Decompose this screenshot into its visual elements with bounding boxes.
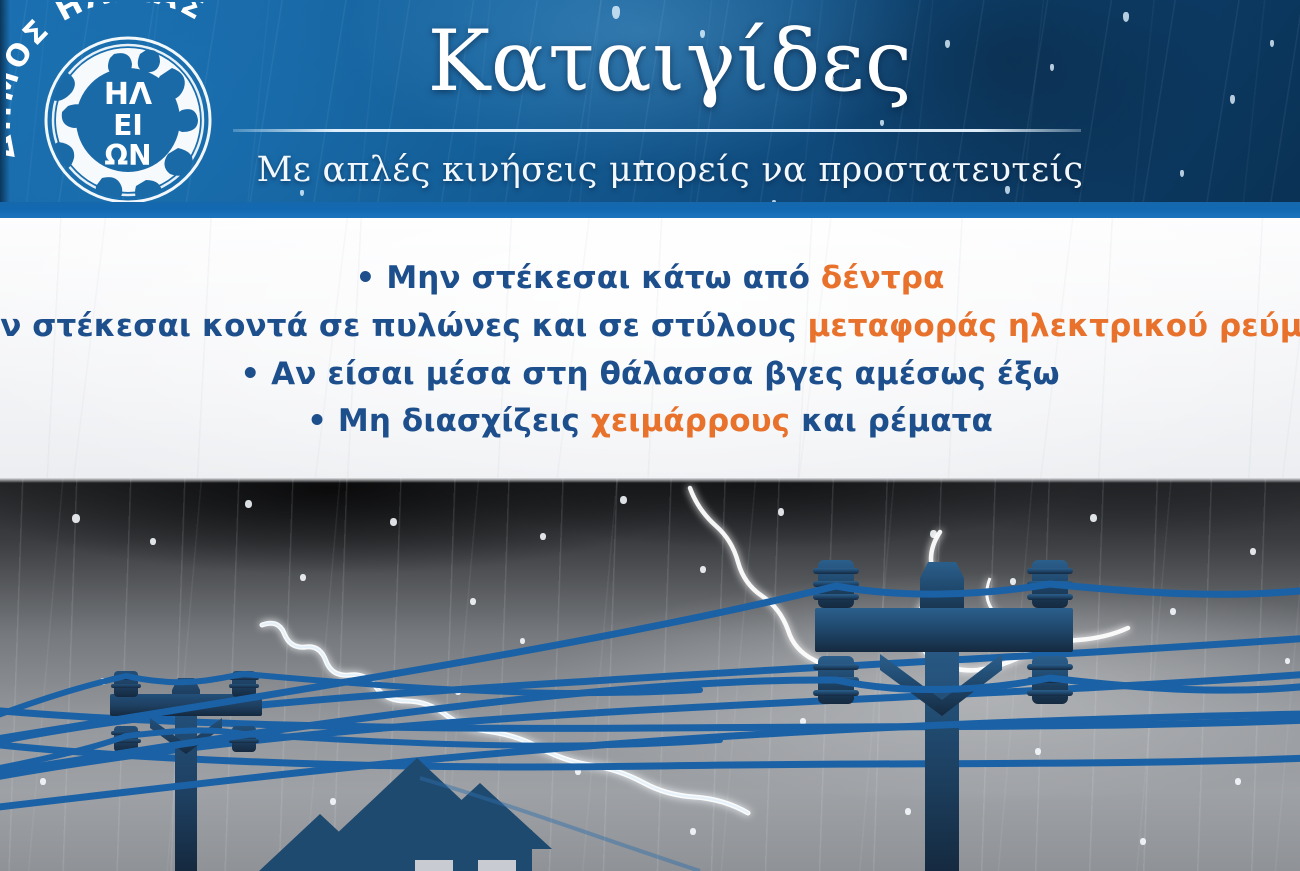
bullet-highlight: μεταφοράς ηλεκτρικού ρεύματος: [808, 308, 1300, 344]
logo-emblem-line1: ΗΛ: [104, 77, 153, 112]
bullet-marker: •: [307, 403, 327, 439]
header-accent-band: [0, 202, 1300, 218]
poster-root: ΔΗΜΟΣ ΗΛΙΔΑΣ: [0, 0, 1300, 871]
bullet-tail: και ρέματα: [790, 403, 993, 439]
bullet-marker: •: [356, 260, 376, 296]
page-title: Καταιγίδες: [250, 6, 1090, 116]
page-subtitle: Με απλές κινήσεις μπορείς να προστατευτε…: [250, 139, 1090, 201]
bullet-lead: Αν είσαι μέσα στη θάλασσα βγες αμέσως έξ…: [271, 356, 1059, 392]
utility-pole-large: [813, 560, 1073, 871]
logo-emblem-line2: ΕΙ: [113, 109, 143, 142]
bullet-highlight: χειμάρρους: [591, 403, 790, 439]
advice-list: • Μην στέκεσαι κάτω από δέντρα • Μην στέ…: [0, 218, 1300, 478]
storm-vector-art: [0, 478, 1300, 871]
municipality-logo: ΔΗΜΟΣ ΗΛΙΔΑΣ: [6, 2, 254, 214]
list-item: • Αν είσαι μέσα στη θάλασσα βγες αμέσως …: [240, 357, 1059, 392]
list-item: • Μη διασχίζεις χειμάρρους και ρέματα: [307, 404, 993, 439]
bullet-lead: Μην στέκεσαι κοντά σε πυλώνες και σε στύ…: [0, 308, 808, 344]
bullet-lead: Μη διασχίζεις: [338, 403, 591, 439]
bullet-marker: •: [240, 356, 260, 392]
logo-emblem-line3: ΩΝ: [104, 139, 151, 172]
bullet-lead: Μην στέκεσαι κάτω από: [386, 260, 821, 296]
header-banner: ΔΗΜΟΣ ΗΛΙΔΑΣ: [0, 0, 1300, 218]
advice-panel: • Μην στέκεσαι κάτω από δέντρα • Μην στέ…: [0, 218, 1300, 478]
title-divider: [233, 129, 1081, 132]
list-item: • Μην στέκεσαι κάτω από δέντρα: [356, 261, 945, 296]
bullet-highlight: δέντρα: [821, 260, 945, 296]
list-item: • Μην στέκεσαι κοντά σε πυλώνες και σε σ…: [0, 309, 1300, 344]
storm-illustration: [0, 478, 1300, 871]
